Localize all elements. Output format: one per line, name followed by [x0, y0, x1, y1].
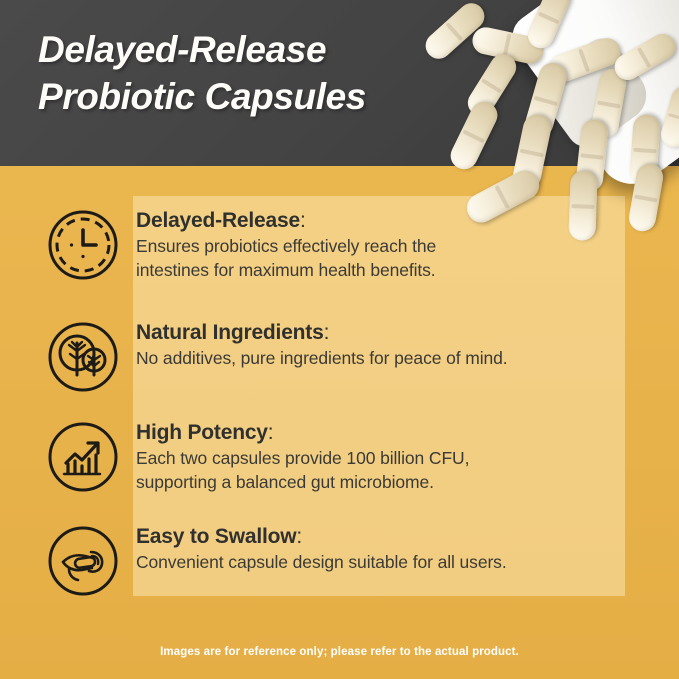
feature-heading: Delayed-Release: [136, 208, 436, 234]
feature-text: Delayed-Release: Ensures probiotics effe… [136, 206, 436, 282]
feature-item-delayed-release: Delayed-Release: Ensures probiotics effe… [44, 206, 436, 284]
tree-icon [44, 318, 122, 396]
feature-item-high-potency: High Potency: Each two capsules provide … [44, 418, 469, 496]
feature-text: Natural Ingredients: No additives, pure … [136, 318, 508, 370]
capsule [462, 165, 544, 227]
feature-heading: High Potency: [136, 420, 469, 446]
capsule [568, 170, 597, 241]
footer-disclaimer: Images are for reference only; please re… [0, 646, 679, 658]
feature-body: No additives, pure ingredients for peace… [136, 346, 508, 370]
feature-heading-label: Delayed-Release [136, 209, 300, 232]
feature-text: Easy to Swallow: Convenient capsule desi… [136, 522, 507, 574]
feature-body: Each two capsules provide 100 billion CF… [136, 446, 469, 494]
product-photo [398, 0, 679, 331]
feature-heading-colon: : [296, 525, 302, 548]
feature-heading-label: High Potency [136, 421, 268, 444]
feature-heading: Natural Ingredients: [136, 320, 508, 346]
feature-heading-colon: : [300, 209, 306, 232]
capsule [446, 97, 502, 174]
feature-body: Ensures probiotics effectively reach the… [136, 234, 436, 282]
feature-heading-label: Natural Ingredients [136, 321, 324, 344]
feature-heading: Easy to Swallow: [136, 524, 507, 550]
infographic-page: Delayed-Release Probiotic Capsules [0, 0, 679, 679]
feature-item-natural-ingredients: Natural Ingredients: No additives, pure … [44, 318, 508, 396]
feature-text: High Potency: Each two capsules provide … [136, 418, 469, 494]
growth-chart-icon [44, 418, 122, 496]
clock-icon [44, 206, 122, 284]
feature-heading-colon: : [268, 421, 274, 444]
hand-capsule-icon [44, 522, 122, 600]
feature-heading-label: Easy to Swallow [136, 525, 296, 548]
feature-body: Convenient capsule design suitable for a… [136, 550, 507, 574]
feature-item-easy-to-swallow: Easy to Swallow: Convenient capsule desi… [44, 522, 507, 600]
feature-heading-colon: : [324, 321, 330, 344]
